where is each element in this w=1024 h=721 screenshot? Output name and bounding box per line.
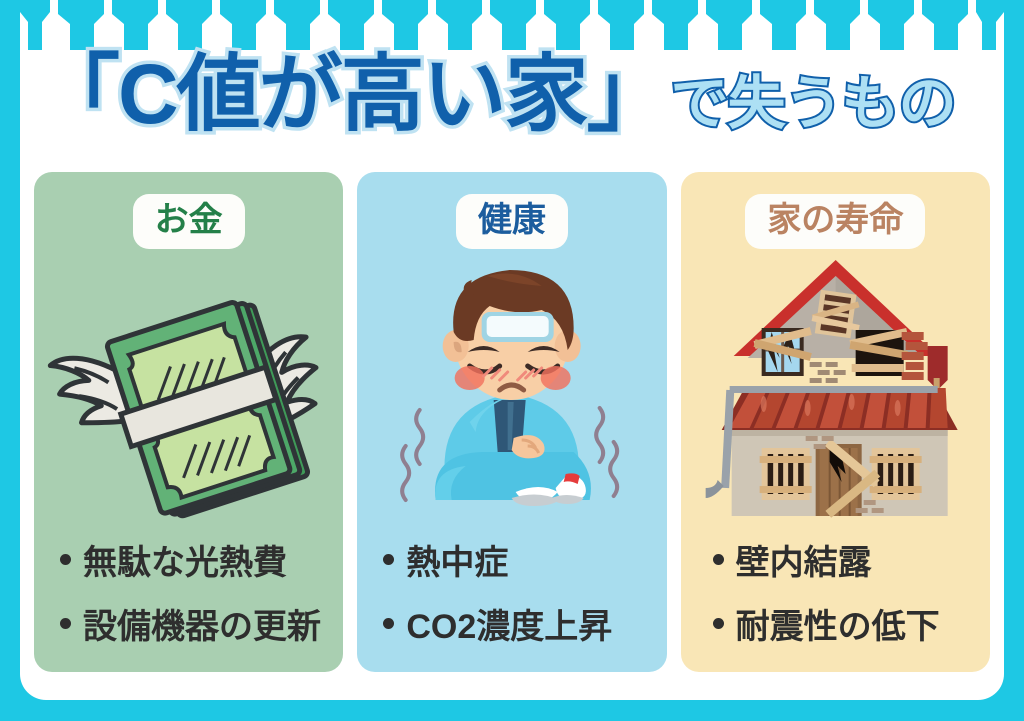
list-item: CO2濃度上昇 — [383, 609, 666, 646]
cooling-patch-icon — [482, 312, 554, 342]
card-health-bullets: 熱中症 CO2濃度上昇 — [357, 545, 666, 646]
list-item: 熱中症 — [383, 545, 666, 582]
list-item-label: 設備機器の更新 — [83, 609, 321, 646]
shiver-lines-left — [402, 410, 423, 500]
list-item-label: 壁内結露 — [736, 545, 872, 582]
list-item-label: 熱中症 — [406, 545, 508, 582]
dilapidated-house-icon — [681, 250, 990, 532]
card-money-badge: お金 — [133, 194, 245, 249]
window-upper-right — [849, 328, 908, 376]
card-house: 家の寿命 — [681, 172, 990, 672]
list-item: 設備機器の更新 — [60, 609, 343, 646]
card-house-badge: 家の寿命 — [745, 194, 925, 249]
white-panel: 「C値が高い家」で失うもの お金 — [20, 0, 1004, 700]
bullet-dot-icon — [713, 554, 724, 565]
list-item-label: CO2濃度上昇 — [406, 609, 612, 646]
bullet-dot-icon — [60, 618, 71, 629]
list-item: 耐震性の低下 — [713, 609, 990, 646]
page-title: 「C値が高い家」で失うもの — [20, 52, 1004, 162]
card-money-bullets: 無駄な光熱費 設備機器の更新 — [34, 545, 343, 646]
shiver-lines-right — [596, 408, 617, 496]
window-lower-left — [759, 448, 811, 500]
card-money: お金 — [34, 172, 343, 672]
bullet-dot-icon — [60, 554, 71, 565]
card-health: 健康 — [357, 172, 666, 672]
sick-person-shivering-icon — [357, 250, 666, 532]
bullet-dot-icon — [713, 618, 724, 629]
card-health-badge: 健康 — [456, 194, 568, 249]
card-house-bullets: 壁内結露 耐震性の低下 — [681, 545, 990, 646]
wall-top-edge — [731, 430, 947, 436]
flying-money-icon — [34, 250, 343, 532]
bullet-dot-icon — [383, 618, 394, 629]
card-row: お金 — [34, 172, 990, 672]
list-item: 壁内結露 — [713, 545, 990, 582]
list-item-label: 無駄な光熱費 — [83, 545, 287, 582]
window-upper-left — [753, 327, 811, 376]
title-main-text: 「C値が高い家」 — [36, 47, 669, 141]
bunting-tab-group — [20, 0, 1004, 50]
brick-crumble-gable — [809, 362, 845, 383]
poster-root: 「C値が高い家」で失うもの お金 — [0, 0, 1024, 721]
bullet-dot-icon — [383, 554, 394, 565]
title-sub-text: で失うもの — [671, 71, 956, 136]
list-item-label: 耐震性の低下 — [736, 609, 940, 646]
head — [443, 270, 581, 400]
list-item: 無駄な光熱費 — [60, 545, 343, 582]
